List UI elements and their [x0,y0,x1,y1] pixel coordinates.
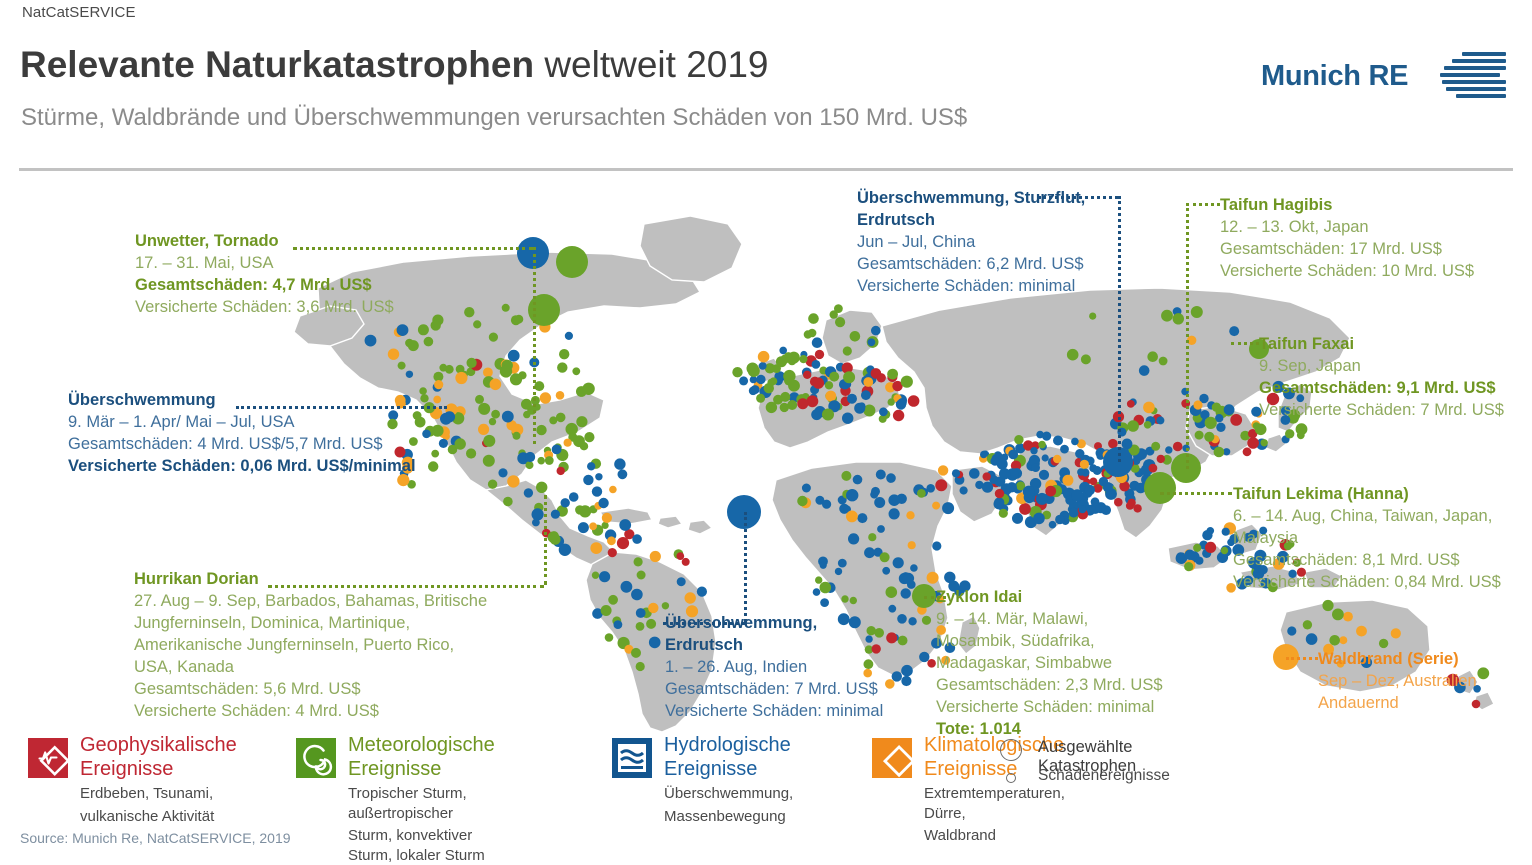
waves-icon [612,738,652,778]
annotation-line: 9. – 14. Mär, Malawi, [936,609,1163,631]
munich-re-logo: Munich RE [1261,52,1511,104]
leader-china-v [1118,196,1121,462]
annotation-waldbrand-australien: Waldbrand (Serie) Sep – Dez, Australien … [1318,649,1477,715]
source-note: Source: Munich Re, NatCatSERVICE, 2019 [20,830,291,846]
annotation-head: Taifun Faxai [1259,334,1504,356]
large-circle-icon [1000,739,1022,761]
page-title-light: weltweit 2019 [534,44,768,85]
infographic-page: NatCatSERVICE Relevante Naturkatastrophe… [0,0,1532,857]
annotation-line: 12. – 13. Okt, Japan [1220,217,1474,239]
size-legend-label-minor: Schadenereignisse [1038,767,1170,785]
legend-sub-line1: Erdbeben, Tsunami, [80,784,237,804]
annotation-line: Gesamtschäden: 2,3 Mrd. US$ [936,675,1163,697]
annotation-head: Überschwemmung [68,390,416,412]
legend-sub-line2: Waldbrand [924,826,1065,846]
annotation-head: Waldbrand (Serie) [1318,649,1477,671]
annotation-taifun-hagibis: Taifun Hagibis 12. – 13. Okt, Japan Gesa… [1220,195,1474,283]
legend-title-line1: Meteorologische [348,734,495,758]
cyclone-spiral-icon [296,738,336,778]
annotation-line: Versicherte Schäden: minimal [857,276,1085,298]
annotation-line: Versicherte Schäden: 0,84 Mrd. US$ [1233,572,1501,594]
annotation-head: Unwetter, Tornado [135,231,394,253]
munich-re-globe-icon [1436,52,1510,104]
annotation-head: Taifun Lekima (Hanna) [1233,484,1501,506]
leader-unwetter-tornado-v [533,247,536,444]
annotation-line: 27. Aug – 9. Sep, Barbados, Bahamas, Bri… [134,591,487,613]
annotation-ueberschwemmung-sturzflut-china: Überschwemmung, Sturzflut, Erdrutsch Jun… [857,188,1085,298]
annotation-line: Sep – Dez, Australien [1318,671,1477,693]
leader-waldbrand [1286,657,1318,660]
annotation-line: Mosambik, Südafrika, [936,631,1163,653]
page-title-bold: Relevante Naturkatastrophen [20,44,534,85]
legend-sub-line1: Überschwemmung, [664,784,793,804]
annotation-line: Versicherte Schäden: 7 Mrd. US$ [1259,400,1504,422]
annotation-line: Gesamtschäden: 7 Mrd. US$ [665,679,883,701]
annotation-line: Gesamtschäden: 4 Mrd. US$/5,7 Mrd. US$ [68,434,416,456]
legend: Geophysikalische Ereignisse Erdbeben, Ts… [0,730,1532,835]
annotation-head: Taifun Hagibis [1220,195,1474,217]
annotation-line: Versicherte Schäden: minimal [665,701,883,723]
legend-text: Hydrologische Ereignisse Überschwemmung,… [664,734,793,826]
leader-hagibis-v [1186,203,1189,469]
annotation-line: 9. Mär – 1. Apr/ Mai – Jul, USA [68,412,416,434]
legend-sub-line1: Extremtemperaturen, Dürre, [924,784,1065,823]
annotation-line: Gesamtschäden: 17 Mrd. US$ [1220,239,1474,261]
annotation-head2: Erdrutsch [857,210,1085,232]
legend-text: Geophysikalische Ereignisse Erdbeben, Ts… [80,734,237,826]
annotation-line: Gesamtschäden: 8,1 Mrd. US$ [1233,550,1501,572]
annotation-line: USA, Kanada [134,657,487,679]
annotation-line: Jungferninseln, Dominica, Martinique, [134,613,487,635]
annotation-taifun-faxai: Taifun Faxai 9. Sep, Japan Gesamtschäden… [1259,334,1504,422]
annotation-line: Versicherte Schäden: 0,06 Mrd. US$/minim… [68,456,416,478]
annotation-line: Versicherte Schäden: 10 Mrd. US$ [1220,261,1474,283]
annotation-line: Versicherte Schäden: minimal [936,697,1163,719]
annotation-line: 6. – 14. Aug, China, Taiwan, Japan, [1233,506,1501,528]
annotation-head: Hurrikan Dorian [134,569,487,591]
annotation-line: Gesamtschäden: 9,1 Mrd. US$ [1259,378,1504,400]
annotation-head: Zyklon Idai [936,587,1163,609]
legend-sub-line2: Massenbewegung [664,807,793,827]
legend-sub-line2: Sturm, konvektiver Sturm, lokaler Sturm [348,826,495,865]
leader-hagibis-h [1186,203,1220,206]
leader-faxai [1231,342,1259,345]
legend-title-line1: Geophysikalische [80,734,237,758]
annotation-head: Überschwemmung, [665,613,883,635]
legend-title-line2: Ereignisse [664,758,793,782]
annotation-line: Amerikanische Jungferninseln, Puerto Ric… [134,635,487,657]
legend-sub-line2: vulkanische Aktivität [80,807,237,827]
annotation-hurrikan-dorian: Hurrikan Dorian 27. Aug – 9. Sep, Barbad… [134,569,487,723]
annotation-line: Malaysia [1233,528,1501,550]
annotation-line: 17. – 31. Mai, USA [135,253,394,275]
leader-indien-v [744,512,747,622]
annotation-line: Madagaskar, Simbabwe [936,653,1163,675]
legend-title-line2: Ereignisse [80,758,237,782]
munich-re-wordmark: Munich RE [1261,60,1408,93]
legend-sub-line1: Tropischer Sturm, außertropischer [348,784,495,823]
annotation-unwetter-tornado-usa: Unwetter, Tornado 17. – 31. Mai, USA Ges… [135,231,394,319]
annotation-line: Versicherte Schäden: 4 Mrd. US$ [134,701,487,723]
annotation-line: Andauernd [1318,693,1477,715]
annotation-line: 1. – 26. Aug, Indien [665,657,883,679]
header-divider [19,168,1513,171]
diamond-seismograph-icon [28,738,68,778]
annotation-zyklon-idai: Zyklon Idai 9. – 14. Mär, Malawi, Mosamb… [936,587,1163,741]
legend-title-line1: Hydrologische [664,734,793,758]
leader-lekima [1160,492,1232,495]
annotation-ueberschwemmung-erdrutsch-indien: Überschwemmung, Erdrutsch 1. – 26. Aug, … [665,613,883,723]
legend-text: Meteorologische Ereignisse Tropischer St… [348,734,495,865]
annotation-line: 9. Sep, Japan [1259,356,1504,378]
annotation-line: Versicherte Schäden: 3,6 Mrd. US$ [135,297,394,319]
page-subtitle: Stürme, Waldbrände und Überschwemmungen … [21,104,967,132]
annotation-line: Gesamtschäden: 5,6 Mrd. US$ [134,679,487,701]
annotation-line: Gesamtschäden: 6,2 Mrd. US$ [857,254,1085,276]
small-circle-icon [1006,773,1016,783]
leader-hurrikan-dorian-v [544,495,547,585]
diamond-outline-icon [872,738,912,778]
page-title: Relevante Naturkatastrophen weltweit 201… [20,44,769,86]
annotation-line: Jun – Jul, China [857,232,1085,254]
annotation-head2: Erdrutsch [665,635,883,657]
annotation-taifun-lekima: Taifun Lekima (Hanna) 6. – 14. Aug, Chin… [1233,484,1501,594]
legend-title-line2: Ereignisse [348,758,495,782]
annotation-head: Überschwemmung, Sturzflut, [857,188,1085,210]
annotation-line: Gesamtschäden: 4,7 Mrd. US$ [135,275,394,297]
eyebrow-label: NatCatSERVICE [22,4,136,21]
annotation-ueberschwemmung-usa: Überschwemmung 9. Mär – 1. Apr/ Mai – Ju… [68,390,416,478]
